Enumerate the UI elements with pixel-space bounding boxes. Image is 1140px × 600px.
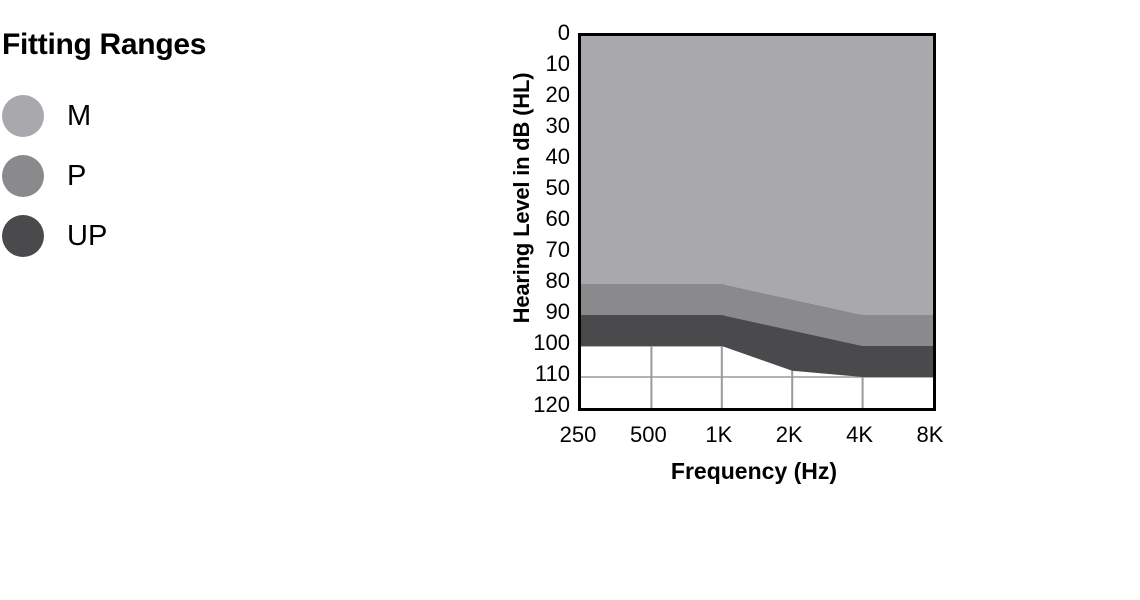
x-tick-label-4K: 4K [846, 424, 873, 446]
legend-label-up: UP [67, 222, 107, 251]
plot-area [578, 33, 936, 411]
y-tick-label-50: 50 [498, 177, 570, 199]
legend-swatch-p-icon [2, 155, 44, 197]
legend-item-m[interactable]: M [0, 86, 330, 146]
x-tick-label-8K: 8K [917, 424, 944, 446]
y-tick-label-70: 70 [498, 239, 570, 261]
legend-label-m: M [67, 102, 91, 131]
y-tick-label-120: 120 [498, 394, 570, 416]
legend-panel: Fitting Ranges M P UP [0, 26, 330, 266]
y-tick-label-100: 100 [498, 332, 570, 354]
y-tick-label-30: 30 [498, 115, 570, 137]
y-tick-label-40: 40 [498, 146, 570, 168]
x-axis-tick-labels: 2505001K2K4K8K [578, 424, 930, 454]
y-tick-label-90: 90 [498, 301, 570, 323]
audiogram-fitting-range-chart: Hearing Level in dB (HL) Frequency (Hz) … [450, 10, 1010, 490]
x-tick-label-250: 250 [560, 424, 597, 446]
y-tick-label-80: 80 [498, 270, 570, 292]
legend-swatch-m-icon [2, 95, 44, 137]
fitting-range-plot [581, 36, 933, 408]
x-tick-label-500: 500 [630, 424, 667, 446]
band-m [581, 36, 933, 315]
y-tick-label-0: 0 [498, 22, 570, 44]
y-tick-label-60: 60 [498, 208, 570, 230]
legend-label-p: P [67, 162, 86, 191]
y-tick-label-10: 10 [498, 53, 570, 75]
y-axis-tick-labels: 0102030405060708090100110120 [498, 33, 570, 405]
x-tick-label-1K: 1K [705, 424, 732, 446]
legend-item-up[interactable]: UP [0, 206, 330, 266]
y-tick-label-20: 20 [498, 84, 570, 106]
x-axis-title: Frequency (Hz) [578, 458, 930, 485]
legend-item-p[interactable]: P [0, 146, 330, 206]
fitting-range-bands [581, 36, 933, 377]
y-tick-label-110: 110 [498, 363, 570, 385]
x-tick-label-2K: 2K [776, 424, 803, 446]
legend-title: Fitting Ranges [2, 26, 330, 64]
legend-swatch-up-icon [2, 215, 44, 257]
